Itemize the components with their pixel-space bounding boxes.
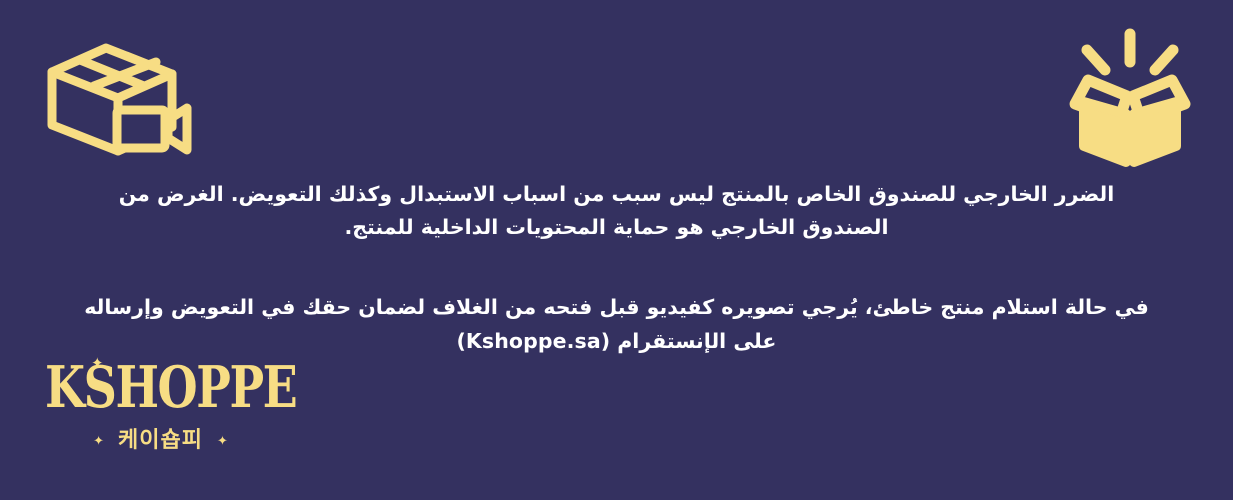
sparkle-icon: ✦ [91,356,104,371]
promo-banner: الضرر الخارجي للصندوق الخاص بالمنتج ليس … [0,0,1233,500]
brand-logo[interactable]: KSHOPPE ✦ ✦ 케이숍피 ✦ [45,360,295,470]
logo-subtitle-row: ✦ 케이숍피 ✦ [53,430,268,452]
instructions-paragraph: في حالة استلام منتج خاطئ، يُرجي تصويره ك… [78,291,1155,357]
sparkle-left-icon: ✦ [93,435,104,448]
logo-subtitle: 케이숍피 [118,430,203,452]
logo-wordmark: KSHOPPE [45,360,296,417]
banner-copy: الضرر الخارجي للصندوق الخاص بالمنتج ليس … [78,178,1155,358]
box-video-icon [44,42,194,157]
policy-paragraph: الضرر الخارجي للصندوق الخاص بالمنتج ليس … [78,178,1155,244]
sparkle-right-icon: ✦ [217,435,228,448]
open-box-sparkle-icon [1055,28,1205,168]
